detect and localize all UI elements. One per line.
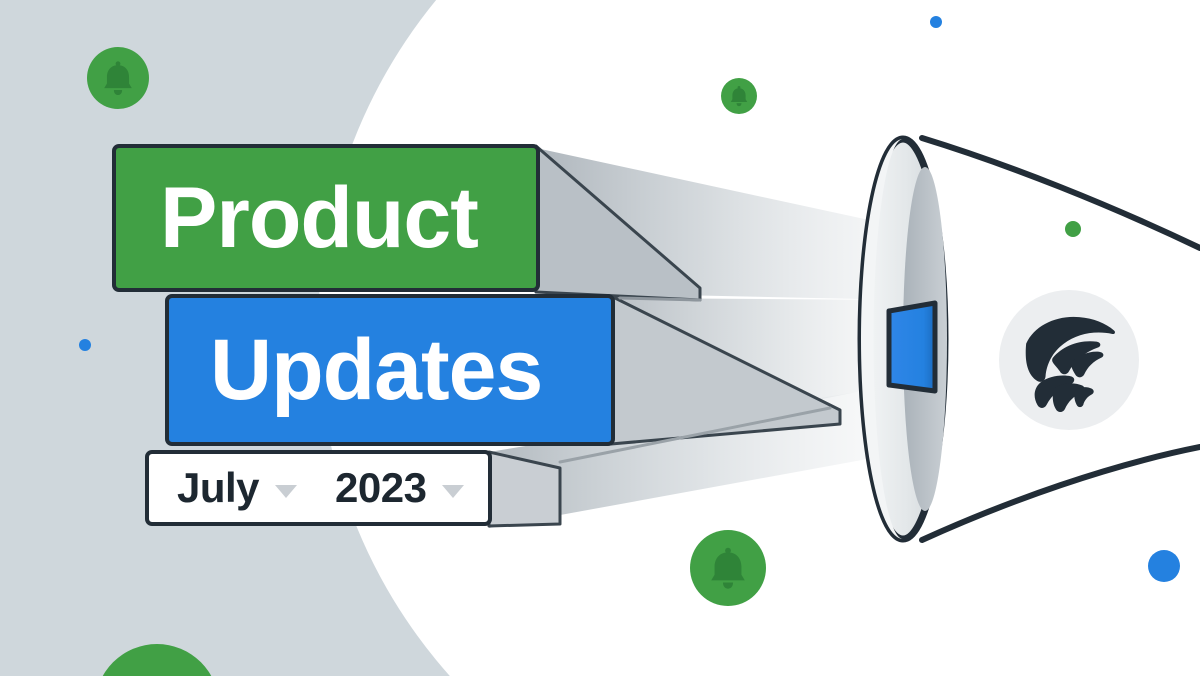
- circle-green-bottom-left: [95, 644, 219, 676]
- product-updates-banner: Product Updates July 2023: [0, 0, 1200, 676]
- dot-blue-large-right: [1148, 550, 1180, 582]
- dot-blue-small-top: [930, 16, 942, 28]
- dot-blue-small-left: [79, 339, 91, 351]
- bell-badge-large-bottom: [690, 530, 766, 606]
- product-title-text: Product: [160, 175, 478, 261]
- chevron-down-icon-month[interactable]: [275, 485, 297, 498]
- year-label[interactable]: 2023: [335, 467, 426, 509]
- bell-badge-large-left: [87, 47, 149, 109]
- updates-title-block: Updates: [165, 294, 615, 446]
- product-title-block: Product: [112, 144, 540, 292]
- date-selector[interactable]: July 2023: [145, 450, 492, 526]
- chevron-down-icon-year[interactable]: [442, 485, 464, 498]
- updates-title-text: Updates: [210, 327, 542, 413]
- month-label[interactable]: July: [177, 467, 259, 509]
- bell-badge-small-top: [721, 78, 757, 114]
- dot-green-small-right: [1065, 221, 1081, 237]
